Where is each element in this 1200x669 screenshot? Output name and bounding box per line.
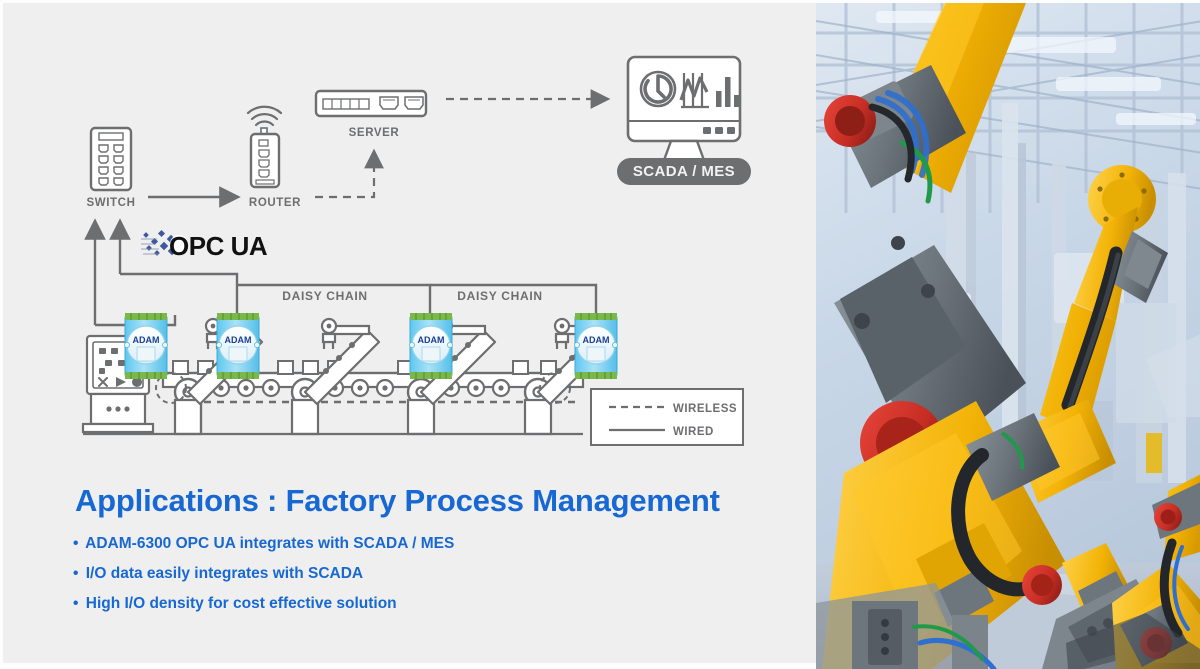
adam-module: ADAM [409, 313, 452, 379]
bullet-text: High I/O density for cost effective solu… [86, 595, 397, 612]
router-label: ROUTER [249, 197, 301, 209]
adam-module: ADAM [574, 313, 617, 379]
scada-monitor-icon [628, 57, 740, 163]
legend-wired-label: WIRED [673, 426, 714, 438]
adam-module-label: ADAM [418, 335, 445, 345]
bullet-text: I/O data easily integrates with SCADA [86, 565, 363, 582]
bullet-item: • High I/O density for cost effective so… [73, 595, 803, 613]
connector-router-to-server [315, 153, 374, 197]
adam-module-label: ADAM [133, 335, 160, 345]
opc-ua-logo: OPC UA [141, 230, 268, 261]
adam-module: ADAM [124, 313, 167, 379]
legend-wireless-label: WIRELESS [673, 403, 737, 415]
network-topology-diagram: SWITCH ROUTER [3, 3, 819, 473]
daisy-chain-label-1: DAISY CHAIN [282, 289, 368, 303]
adam-module-label: ADAM [583, 335, 610, 345]
adam-module: ADAM [216, 313, 259, 379]
server-icon [316, 91, 426, 116]
page-title: Applications : Factory Process Managemen… [75, 483, 803, 519]
server-label: SERVER [349, 127, 400, 139]
bullet-marker: • [73, 535, 78, 552]
bullet-text: ADAM-6300 OPC UA integrates with SCADA /… [85, 535, 454, 552]
switch-icon [91, 128, 131, 190]
bullet-marker: • [73, 565, 78, 582]
bullet-item: • ADAM-6300 OPC UA integrates with SCADA… [73, 535, 803, 553]
bullet-item: • I/O data easily integrates with SCADA [73, 565, 803, 583]
connector-uplinks-to-switch [95, 223, 120, 325]
bullet-marker: • [73, 595, 78, 612]
legend: WIRELESS WIRED [591, 389, 743, 445]
adam-module-label: ADAM [225, 335, 252, 345]
scada-badge-label: SCADA / MES [633, 163, 735, 180]
router-icon [248, 107, 281, 187]
opc-ua-logo-text: OPC UA [169, 231, 268, 261]
text-content-block: Applications : Factory Process Managemen… [63, 483, 803, 625]
switch-label: SWITCH [87, 197, 136, 209]
daisy-chain-label-2: DAISY CHAIN [457, 289, 543, 303]
slide-root: SWITCH ROUTER [0, 0, 1200, 666]
factory-robots-photo [816, 3, 1200, 669]
